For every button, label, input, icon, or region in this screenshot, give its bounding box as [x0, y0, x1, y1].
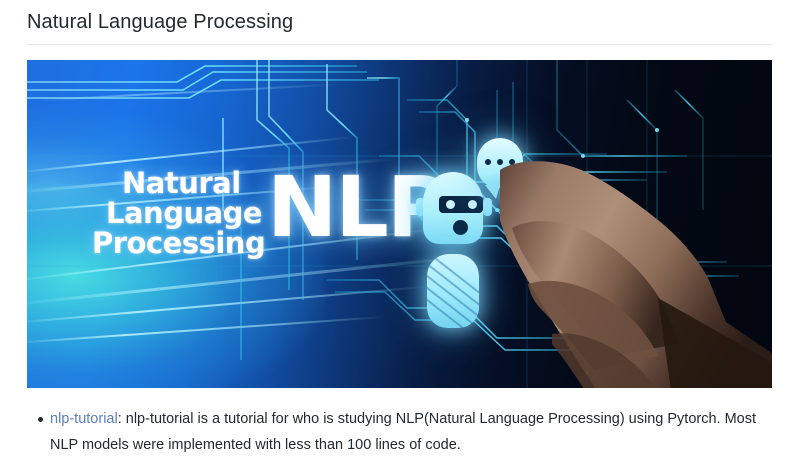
banner-text-line-1: Natural [122, 168, 265, 198]
list-item-separator: : [118, 411, 126, 427]
title-divider [27, 44, 772, 45]
page-title: Natural Language Processing [27, 8, 773, 36]
robot-mouth-icon [453, 220, 468, 235]
robot-eyes-icon [439, 196, 483, 213]
banner-text-line-3: Processing [92, 228, 265, 258]
page-header: Natural Language Processing [0, 0, 800, 45]
content-list: nlp-tutorial: nlp-tutorial is a tutorial… [0, 388, 800, 458]
robot-head-icon [423, 172, 483, 244]
robot-body-icon [427, 254, 479, 328]
list-item: nlp-tutorial: nlp-tutorial is a tutorial… [50, 406, 773, 458]
banner-stacked-text: Natural Language Processing [122, 168, 265, 258]
list-item-description: nlp-tutorial is a tutorial for who is st… [50, 411, 756, 453]
nlp-tutorial-link[interactable]: nlp-tutorial [50, 411, 118, 427]
banner-image: Natural Language Processing NLP [27, 60, 772, 388]
banner-canvas: Natural Language Processing NLP [27, 60, 772, 388]
pointing-hand-icon [482, 108, 772, 388]
banner-text-line-2: Language [106, 198, 265, 228]
